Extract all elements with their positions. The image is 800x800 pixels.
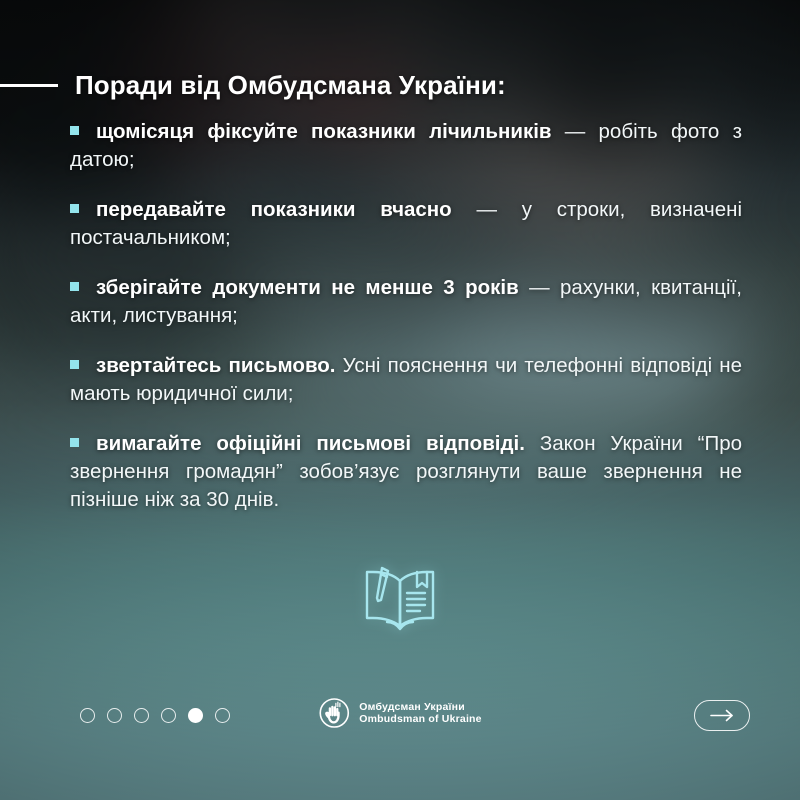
logo-line-english: Ombudsman of Ukraine	[359, 713, 481, 725]
ombudsman-hand-trident-emblem-icon	[318, 697, 350, 729]
slide-content: Поради від Омбудсмана України: щомісяця …	[0, 0, 800, 800]
tip-item-3: зберігайте документи не менше 3 років — …	[70, 274, 742, 330]
open-book-with-pen-icon	[357, 560, 443, 634]
tip-item-5: вимагайте офіційні письмові відповіді. З…	[70, 430, 742, 514]
ombudsman-logo: Омбудсман України Ombudsman of Ukraine	[318, 697, 481, 729]
bullet-square-icon	[70, 438, 79, 447]
pagination-dot-5-active[interactable]	[188, 708, 203, 723]
pagination-dot-3[interactable]	[134, 708, 149, 723]
slide-canvas: Поради від Омбудсмана України: щомісяця …	[0, 0, 800, 800]
tip-item-1: щомісяця фіксуйте показники лічильників …	[70, 118, 742, 174]
logo-text-block: Омбудсман України Ombudsman of Ukraine	[359, 701, 481, 726]
tip-1-bold: щомісяця фіксуйте показники лічильників	[96, 120, 552, 143]
logo-line-ukrainian: Омбудсман України	[359, 701, 481, 713]
title-rule-decoration	[0, 84, 58, 87]
tip-5-bold: вимагайте офіційні письмові відповіді.	[96, 432, 525, 455]
pagination-dot-4[interactable]	[161, 708, 176, 723]
pagination-dot-2[interactable]	[107, 708, 122, 723]
pagination-dots[interactable]	[80, 708, 230, 723]
tip-3-bold: зберігайте документи не менше 3 років	[96, 276, 519, 299]
bullet-square-icon	[70, 282, 79, 291]
bullet-square-icon	[70, 204, 79, 213]
pagination-dot-1[interactable]	[80, 708, 95, 723]
tip-2-bold: передавайте показники вчасно	[96, 198, 452, 221]
bullet-square-icon	[70, 126, 79, 135]
tip-item-4: звертайтесь письмово. Усні пояснення чи …	[70, 352, 742, 408]
tips-list: щомісяця фіксуйте показники лічильників …	[70, 118, 742, 514]
title-row: Поради від Омбудсмана України:	[0, 70, 800, 101]
bullet-square-icon	[70, 360, 79, 369]
page-title: Поради від Омбудсмана України:	[75, 70, 506, 101]
tip-4-bold: звертайтесь письмово.	[96, 354, 336, 377]
pagination-dot-6[interactable]	[215, 708, 230, 723]
tip-item-2: передавайте показники вчасно — у строки,…	[70, 196, 742, 252]
next-slide-button[interactable]	[694, 700, 750, 731]
arrow-right-icon	[709, 709, 735, 722]
